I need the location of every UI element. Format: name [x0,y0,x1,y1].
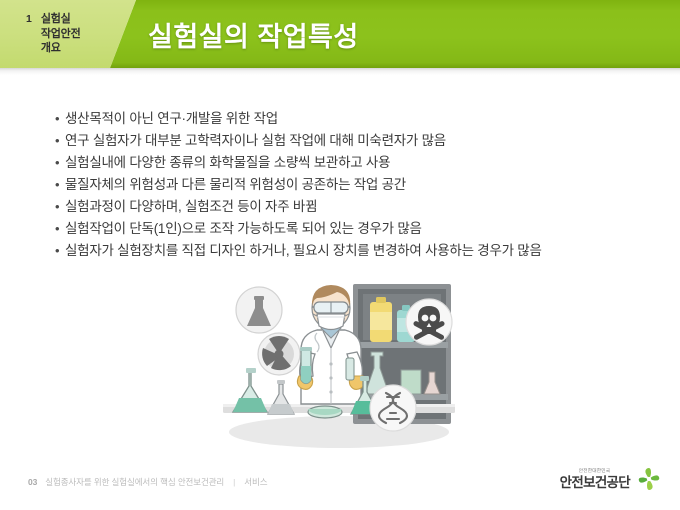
bullet-marker-icon: • [55,218,65,240]
radiation-icon [258,333,300,375]
skull-crossbones-icon [406,299,452,345]
chapter-line-3: 개요 [41,41,81,56]
bullet-text: 생산목적이 아닌 연구·개발을 위한 작업 [65,108,278,130]
bullet-text: 물질자체의 위험성과 다른 물리적 위험성이 공존하는 작업 공간 [65,174,406,196]
dna-icon [370,385,416,431]
chapter-number: 1 [26,12,32,27]
bullet-text: 실험작업이 단독(1인)으로 조작 가능하도록 되어 있는 경우가 많음 [65,218,422,240]
list-item: • 실험자가 실험장치를 직접 디자인 하거나, 필요시 장치를 변경하여 사용… [55,240,665,262]
list-item: • 물질자체의 위험성과 다른 물리적 위험성이 공존하는 작업 공간 [55,174,665,196]
page-number: 03 [28,477,37,487]
list-item: • 연구 실험자가 대부분 고학력자이나 실험 작업에 대해 미숙련자가 많음 [55,130,665,152]
logo-tagline: 안전한대한민국 [579,469,611,474]
page-title: 실험실의 작업특성 [148,15,359,54]
footer-title: 실험종사자를 위한 실험실에서의 핵심 안전보건관리 [45,476,224,488]
list-item: • 실험과정이 다양하며, 실험조건 등이 자주 바뀜 [55,196,665,218]
chapter-indicator: 1 실험실 작업안전 개요 [26,12,81,56]
test-tube [300,347,312,384]
chapter-label: 실험실 작업안전 개요 [41,12,81,56]
list-item: • 실험작업이 단독(1인)으로 조작 가능하도록 되어 있는 경우가 많음 [55,218,665,240]
bullet-marker-icon: • [55,108,65,130]
safety-goggles [312,302,350,313]
chemical-bottle-yellow [370,297,392,342]
bullet-text: 연구 실험자가 대부분 고학력자이나 실험 작업에 대해 미숙련자가 많음 [65,130,446,152]
chapter-line-1: 실험실 [41,12,81,27]
bullet-marker-icon: • [55,130,65,152]
list-item: • 생산목적이 아닌 연구·개발을 위한 작업 [55,108,665,130]
pinwheel-logo-icon [636,466,662,492]
kosha-logo: 안전한대한민국 안전보건공단 [560,466,662,492]
logo-name: 안전보건공단 [560,476,630,490]
bullet-text: 실험과정이 다양하며, 실험조건 등이 자주 바뀜 [65,196,317,218]
footer-section: 서비스 [244,476,267,488]
vial [346,358,354,380]
bullet-text: 실험실내에 다양한 종류의 화학물질을 소량씩 보관하고 사용 [65,152,390,174]
bullet-marker-icon: • [55,196,65,218]
face-mask [313,314,349,330]
bullet-marker-icon: • [55,174,65,196]
slide-header: 1 실험실 작업안전 개요 실험실의 작업특성 [0,0,680,68]
list-item: • 실험실내에 다양한 종류의 화학물질을 소량씩 보관하고 사용 [55,152,665,174]
footer-separator: | [233,477,235,487]
chapter-line-2: 작업안전 [41,27,81,42]
bullet-marker-icon: • [55,152,65,174]
bullet-list: • 생산목적이 아닌 연구·개발을 위한 작업 • 연구 실험자가 대부분 고학… [55,108,665,262]
header-shadow [0,68,680,75]
footer: 03 실험종사자를 위한 실험실에서의 핵심 안전보건관리 | 서비스 [28,476,267,488]
flask-icon [236,287,282,333]
lab-scientist-illustration [213,276,465,448]
logo-text: 안전한대한민국 안전보건공단 [560,469,630,489]
bullet-text: 실험자가 실험장치를 직접 디자인 하거나, 필요시 장치를 변경하여 사용하는… [65,240,542,262]
bullet-marker-icon: • [55,240,65,262]
